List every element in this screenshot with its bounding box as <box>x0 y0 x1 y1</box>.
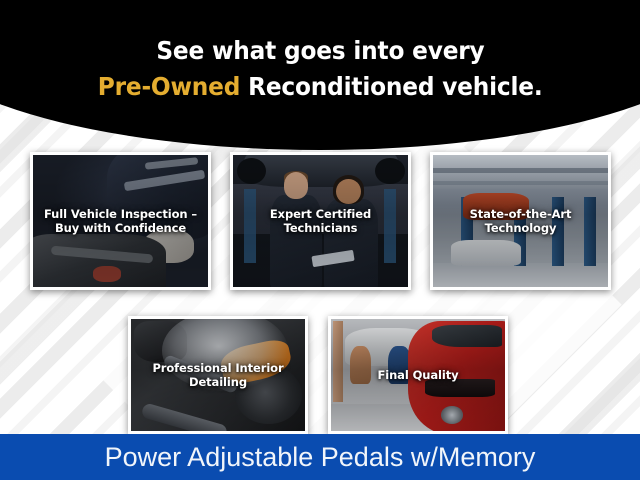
card-caption: State-of-the-Art Technology <box>433 207 608 235</box>
card-full-vehicle-inspection[interactable]: Full Vehicle Inspection – Buy with Confi… <box>30 152 211 290</box>
card-final-quality[interactable]: Final Quality <box>328 316 508 434</box>
card-caption: Professional Interior Detailing <box>131 361 305 389</box>
card-caption-line-2: Detailing <box>189 375 247 389</box>
card-state-of-the-art-technology[interactable]: State-of-the-Art Technology <box>430 152 611 290</box>
headline-line-2: Pre-Owned Reconditioned vehicle. <box>98 72 543 102</box>
card-professional-interior-detailing[interactable]: Professional Interior Detailing <box>128 316 308 434</box>
card-caption: Full Vehicle Inspection – Buy with Confi… <box>33 207 208 235</box>
header-banner: See what goes into every Pre-Owned Recon… <box>0 0 640 150</box>
headline-rest: Reconditioned vehicle. <box>240 72 542 101</box>
card-expert-certified-technicians[interactable]: Expert Certified Technicians <box>230 152 411 290</box>
header-text-block: See what goes into every Pre-Owned Recon… <box>0 0 640 150</box>
footer-bar: Power Adjustable Pedals w/Memory <box>0 434 640 480</box>
headline-line-1: See what goes into every <box>156 36 484 66</box>
footer-feature-label: Power Adjustable Pedals w/Memory <box>105 442 536 472</box>
card-caption-line-1: Final Quality <box>378 368 459 382</box>
card-caption: Final Quality <box>331 368 505 382</box>
card-caption-line-1: Full Vehicle Inspection – <box>44 207 197 221</box>
recon-banner: See what goes into every Pre-Owned Recon… <box>0 0 640 480</box>
card-caption-line-1: Expert Certified Technicians <box>270 207 371 235</box>
card-caption-line-1: State-of-the-Art Technology <box>470 207 572 235</box>
card-caption: Expert Certified Technicians <box>233 207 408 235</box>
card-caption-line-1: Professional Interior <box>152 361 283 375</box>
headline-highlight-pre-owned: Pre-Owned <box>98 72 240 101</box>
card-caption-line-2: Buy with Confidence <box>55 221 186 235</box>
